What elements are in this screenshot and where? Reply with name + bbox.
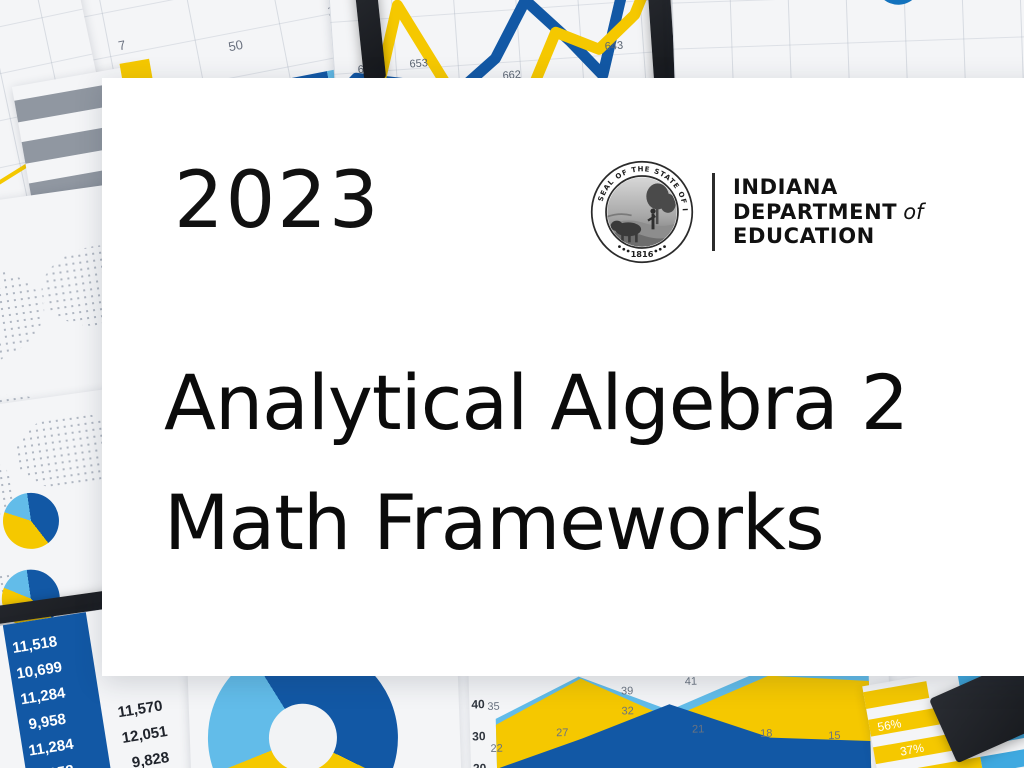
area-data-label: 21 <box>692 723 705 735</box>
area-y-tick-30: 30 <box>472 729 486 743</box>
indiana-state-seal-icon: SEAL OF THE STATE OF INDIANA 1816 <box>590 160 694 264</box>
year-heading: 2023 <box>174 156 381 246</box>
wordmark-line-3: EDUCATION <box>733 224 923 249</box>
wordmark-line-1: INDIANA <box>733 175 923 200</box>
slide-canvas: Fig.17 7 0 50 100 150 12.3 42.3 <box>0 0 1024 768</box>
wordmark-of: of <box>903 200 923 224</box>
line-data-label: 653 <box>409 57 428 70</box>
area-data-label: 35 <box>487 701 500 713</box>
seal-year-text: 1816 <box>631 249 654 259</box>
table-cell: 11,570 <box>117 697 164 721</box>
page-title-line-1: Analytical Algebra 2 <box>164 358 908 447</box>
area-y-tick-20: 20 <box>473 761 487 768</box>
page-title-line-2: Math Frameworks <box>164 478 824 567</box>
title-card: 2023 <box>102 78 1024 676</box>
bar-axis-tick-50: 50 <box>227 37 244 54</box>
logo-divider <box>712 173 715 251</box>
area-data-label: 18 <box>760 728 773 740</box>
area-data-label: 39 <box>621 685 634 697</box>
area-data-label: 41 <box>685 676 698 688</box>
area-data-label: 27 <box>556 727 569 739</box>
area-data-label: 32 <box>621 705 634 717</box>
logo-wordmark: INDIANA DEPARTMENTof EDUCATION <box>733 175 923 249</box>
wordmark-department: DEPARTMENT <box>733 200 897 224</box>
bubble-partial <box>874 0 922 6</box>
wordmark-line-2: DEPARTMENTof <box>733 200 923 225</box>
area-data-label: 22 <box>490 743 503 755</box>
area-data-label: 15 <box>828 730 841 742</box>
table-cell: 12,051 <box>121 723 169 747</box>
line-data-label: 643 <box>604 40 623 53</box>
indiana-doe-logo: SEAL OF THE STATE OF INDIANA 1816 INDIAN… <box>590 160 923 264</box>
area-y-tick-40: 40 <box>471 697 485 711</box>
table-cell: 9,828 <box>131 749 171 768</box>
bar-axis-tick-7: 7 <box>117 37 127 53</box>
